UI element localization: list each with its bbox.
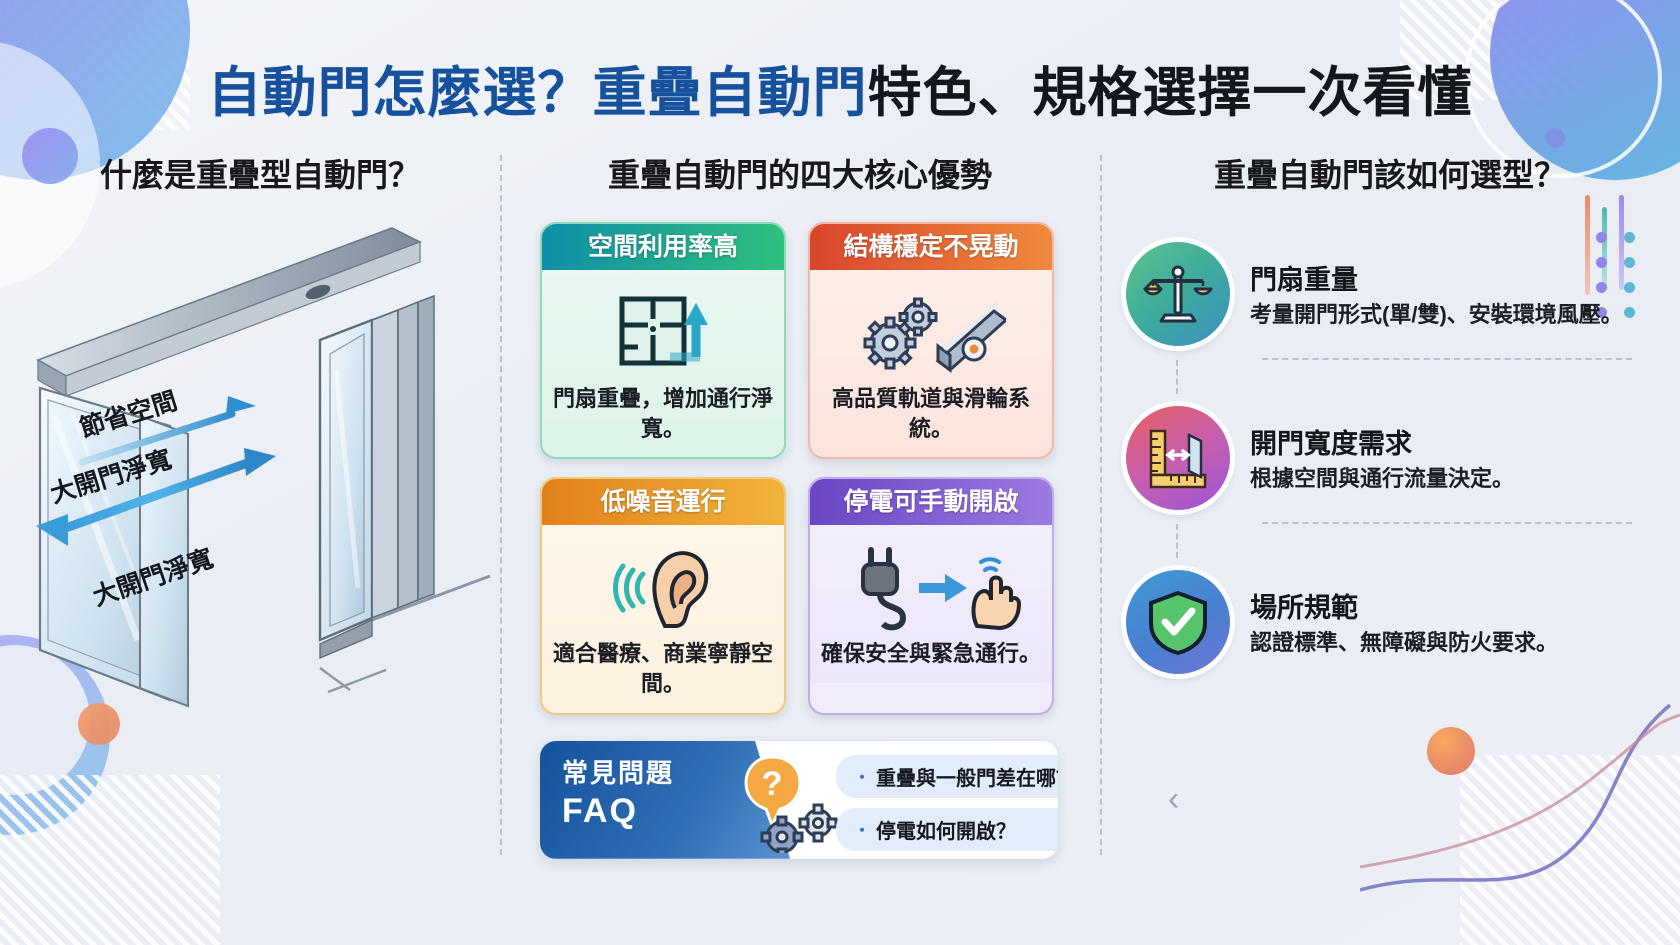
svg-text:?: ? (762, 765, 783, 803)
dot-decoration-top-right (1545, 128, 1565, 148)
selection-criteria-list: 門扇重量 考量開門形式(單/雙)、安裝環境風壓。 (1112, 230, 1668, 686)
advantage-card-space[interactable]: 空間利用率高 門扇重疊，增加通行淨寬。 (540, 222, 786, 459)
column-how-to-choose: 重疊自動門該如何選型？ (1112, 150, 1668, 686)
faq-question-item[interactable]: ・停電如何開啟？ (836, 808, 1058, 851)
criteria-item-door-weight[interactable]: 門扇重量 考量開門形式(單/雙)、安裝環境風壓。 (1112, 230, 1668, 358)
page-title: 自動門怎麼選？重疊自動門特色、規格選擇一次看懂 (0, 48, 1680, 127)
orange-dot-decoration (1427, 727, 1475, 775)
column-divider-2 (1100, 155, 1102, 855)
faq-panel: 常見問題 FAQ ? (540, 741, 1058, 859)
criteria-text-block: 開門寬度需求 根據空間與通行流量決定。 (1250, 422, 1514, 494)
door-diagram: 節省空間 大開門淨寬 大開門淨寬 (20, 220, 500, 750)
ruler-width-icon (1126, 406, 1230, 510)
plug-hand-icon (818, 535, 1044, 639)
card-3-header: 低噪音運行 (542, 479, 784, 525)
faq-bullet: ・ (854, 770, 870, 787)
column-advantages: 重疊自動門的四大核心優勢 空間利用率高 (512, 150, 1088, 859)
shield-check-icon (1126, 570, 1230, 674)
question-balloon-gears-icon: ? (738, 749, 848, 853)
card-4-body: 確保安全與緊急通行。 (818, 639, 1044, 669)
card-2-header: 結構穩定不晃動 (810, 224, 1052, 270)
advantage-card-quiet[interactable]: 低噪音運行 適合醫療、商業寧靜空間。 (540, 477, 786, 714)
stripe-decoration-bottom-left (0, 775, 220, 945)
faq-question-list: ・重疊與一般門差在哪？ ・停電如何開啟？ (836, 755, 1058, 851)
card-1-body: 門扇重疊，增加通行淨寬。 (550, 384, 776, 443)
criteria-connector-dash (1176, 524, 1668, 558)
faq-question-item[interactable]: ・重疊與一般門差在哪？ (836, 755, 1058, 798)
criteria-connector-dash (1176, 360, 1668, 394)
column-divider-1 (500, 155, 502, 855)
floorplan-arrow-icon (550, 280, 776, 384)
criteria-desc: 考量開門形式(單/雙)、安裝環境風壓。 (1250, 301, 1623, 330)
column-3-heading: 重疊自動門該如何選型？ (1112, 150, 1668, 196)
ear-soundwave-icon (550, 535, 776, 639)
gears-rail-icon (818, 280, 1044, 384)
criteria-title: 場所規範 (1250, 586, 1558, 625)
criteria-text-block: 場所規範 認證標準、無障礙與防火要求。 (1250, 586, 1558, 658)
column-what-is: 什麼是重疊型自動門？ (20, 150, 500, 750)
criteria-item-venue-regulation[interactable]: 場所規範 認證標準、無障礙與防火要求。 (1112, 558, 1668, 686)
card-3-body: 適合醫療、商業寧靜空間。 (550, 639, 776, 698)
page-title-highlight: 自動門怎麼選？重疊自動門 (208, 63, 868, 123)
faq-question-text: 重疊與一般門差在哪？ (876, 768, 1058, 790)
curve-decoration-bottom-right (1360, 685, 1680, 945)
faq-question-text: 停電如何開啟？ (876, 821, 1016, 843)
stripe-decoration-bottom-right (1460, 755, 1680, 945)
card-4-header: 停電可手動開啟 (810, 479, 1052, 525)
chevron-left-icon: ‹ (1168, 780, 1179, 827)
column-2-heading: 重疊自動門的四大核心優勢 (512, 150, 1088, 196)
balance-scale-icon (1126, 242, 1230, 346)
faq-bullet: ・ (854, 823, 870, 840)
advantage-card-grid: 空間利用率高 門扇重疊，增加通行淨寬。 (540, 222, 1088, 715)
page-title-rest: 特色、規格選擇一次看懂 (868, 63, 1473, 123)
criteria-text-block: 門扇重量 考量開門形式(單/雙)、安裝環境風壓。 (1250, 258, 1623, 330)
advantage-card-manual-open[interactable]: 停電可手動開啟 (808, 477, 1054, 714)
criteria-desc: 根據空間與通行流量決定。 (1250, 465, 1514, 494)
card-1-header: 空間利用率高 (542, 224, 784, 270)
criteria-item-opening-width[interactable]: 開門寬度需求 根據空間與通行流量決定。 (1112, 394, 1668, 522)
card-2-body: 高品質軌道與滑輪系統。 (818, 384, 1044, 443)
advantage-card-stability[interactable]: 結構穩定不晃動 (808, 222, 1054, 459)
criteria-desc: 認證標準、無障礙與防火要求。 (1250, 629, 1558, 658)
infographic-canvas: 自動門怎麼選？重疊自動門特色、規格選擇一次看懂 什麼是重疊型自動門？ (0, 0, 1680, 945)
criteria-title: 門扇重量 (1250, 258, 1623, 297)
criteria-title: 開門寬度需求 (1250, 422, 1514, 461)
column-1-heading: 什麼是重疊型自動門？ (20, 150, 500, 196)
